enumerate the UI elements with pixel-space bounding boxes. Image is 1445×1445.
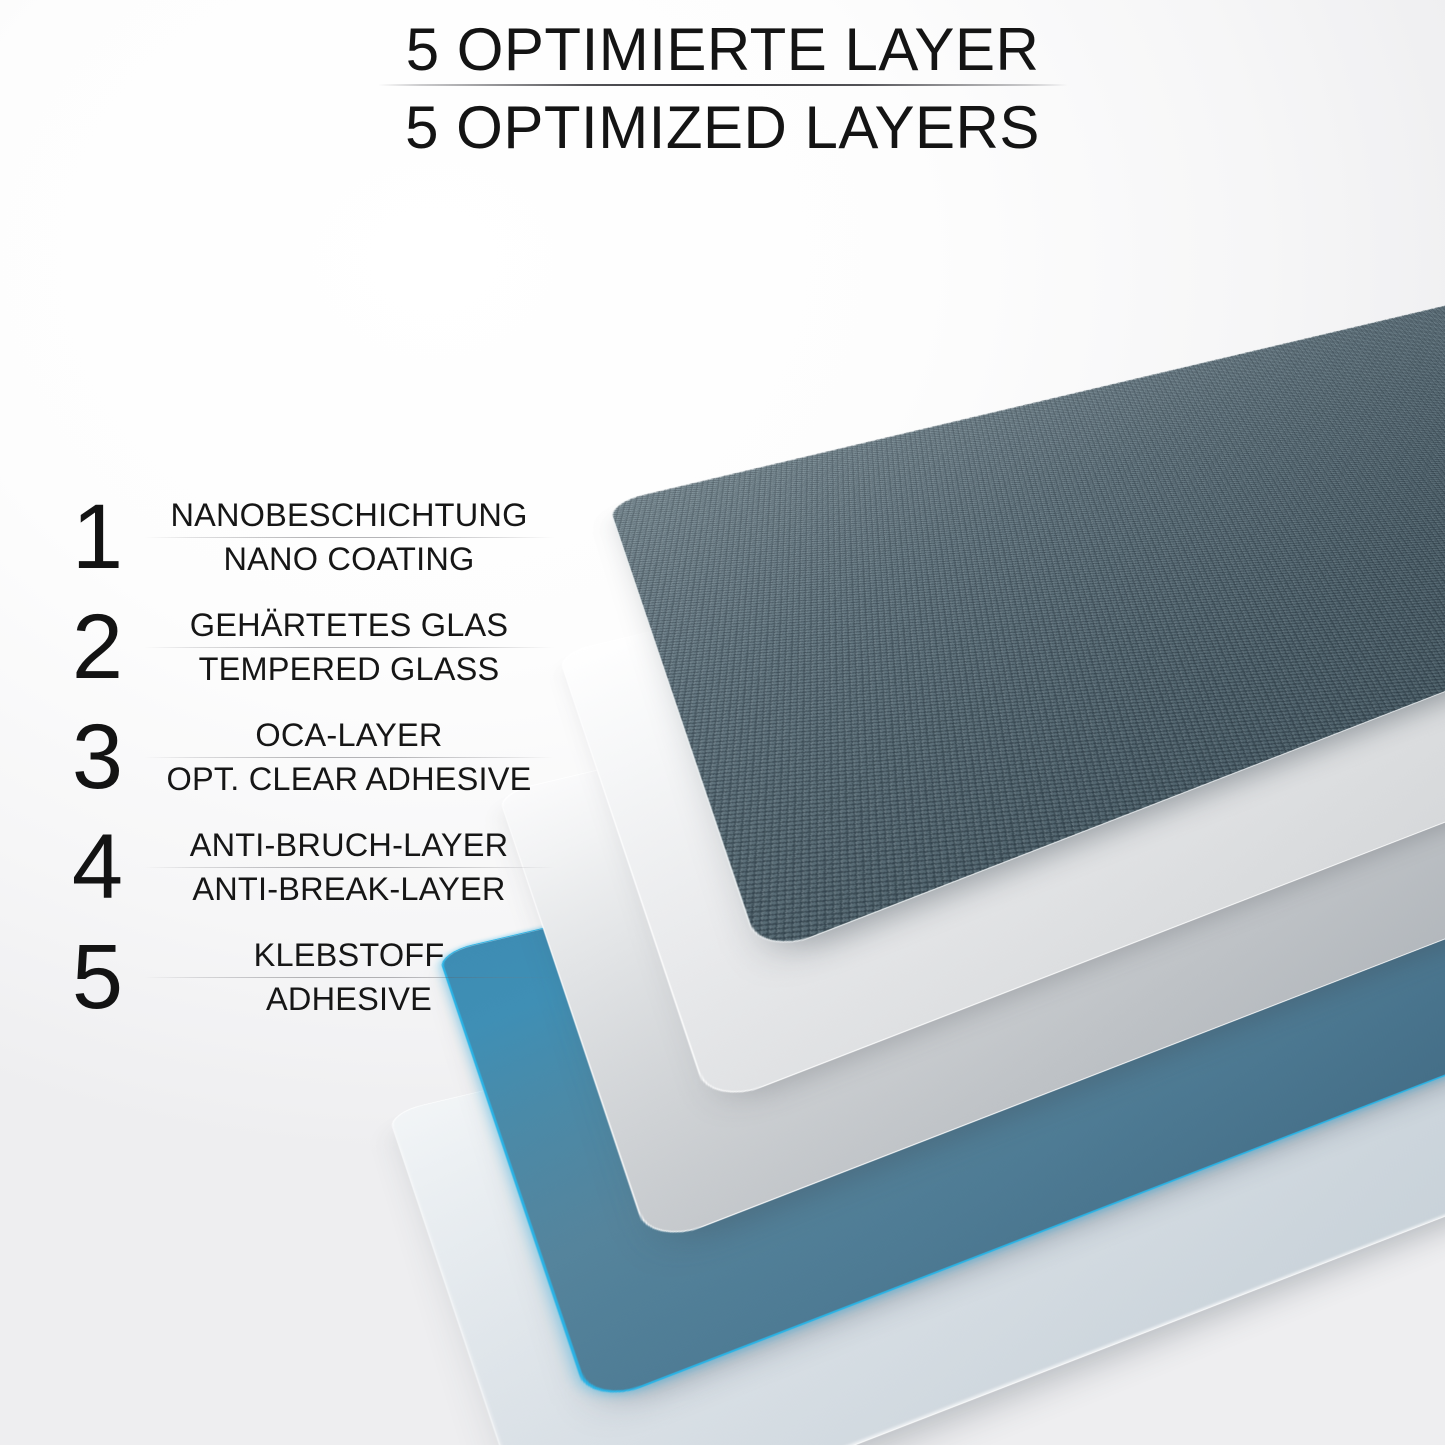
title-line-english: 5 OPTIMIZED LAYERS: [0, 96, 1445, 161]
anti-break-edge-glow: [437, 737, 1445, 1407]
legend-labels-2: GEHÄRTETES GLAS TEMPERED GLASS: [136, 606, 558, 688]
tempered-glass-sheet-surface: [497, 577, 1445, 1247]
legend-item-1: 1 NANOBESCHICHTUNG NANO COATING: [58, 482, 558, 592]
legend-item-3: 3 OCA-LAYER OPT. CLEAR ADHESIVE: [58, 702, 558, 812]
nano-coating-sheet-surface: [607, 287, 1445, 957]
legend-divider-5: [144, 977, 554, 978]
legend-label-de-2: GEHÄRTETES GLAS: [140, 606, 558, 644]
legend-label-en-5: ADHESIVE: [140, 980, 558, 1018]
legend-label-en-4: ANTI-BREAK-LAYER: [140, 870, 558, 908]
oca-sheet: [557, 437, 1445, 1107]
legend-labels-3: OCA-LAYER OPT. CLEAR ADHESIVE: [136, 716, 558, 798]
legend-label-en-1: NANO COATING: [140, 540, 558, 578]
legend-label-de-4: ANTI-BRUCH-LAYER: [140, 826, 558, 864]
legend-number-3: 3: [58, 711, 136, 803]
legend-divider-4: [144, 867, 554, 868]
legend-labels-5: KLEBSTOFF ADHESIVE: [136, 936, 558, 1018]
legend-number-2: 2: [58, 601, 136, 693]
tempered-glass-sheet: [497, 577, 1445, 1247]
legend-label-de-5: KLEBSTOFF: [140, 936, 558, 974]
legend-divider-3: [144, 757, 554, 758]
anti-break-sheet-surface: [437, 737, 1445, 1407]
anti-break-sheet: [437, 737, 1445, 1407]
legend-label-de-1: NANOBESCHICHTUNG: [140, 496, 558, 534]
layer-infographic: 5 OPTIMIERTE LAYER 5 OPTIMIZED LAYERS 1 …: [0, 0, 1445, 1445]
legend-labels-4: ANTI-BRUCH-LAYER ANTI-BREAK-LAYER: [136, 826, 558, 908]
legend-label-en-3: OPT. CLEAR ADHESIVE: [140, 760, 558, 798]
legend-item-4: 4 ANTI-BRUCH-LAYER ANTI-BREAK-LAYER: [58, 812, 558, 922]
legend-item-2: 2 GEHÄRTETES GLAS TEMPERED GLASS: [58, 592, 558, 702]
title-line-german: 5 OPTIMIERTE LAYER: [0, 18, 1445, 83]
oca-sheet-surface: [557, 437, 1445, 1107]
title-divider: [378, 84, 1068, 86]
legend-labels-1: NANOBESCHICHTUNG NANO COATING: [136, 496, 558, 578]
legend-label-en-2: TEMPERED GLASS: [140, 650, 558, 688]
legend-item-5: 5 KLEBSTOFF ADHESIVE: [58, 922, 558, 1032]
legend-divider-1: [144, 537, 554, 538]
nano-texture-pattern: [609, 287, 1445, 955]
legend-number-5: 5: [58, 931, 136, 1023]
nano-sheen-overlay: [609, 287, 1445, 955]
layer-legend: 1 NANOBESCHICHTUNG NANO COATING 2 GEHÄRT…: [58, 482, 558, 1032]
legend-number-4: 4: [58, 821, 136, 913]
nano-coating-sheet: [607, 287, 1445, 957]
page-title: 5 OPTIMIERTE LAYER 5 OPTIMIZED LAYERS: [0, 18, 1445, 161]
legend-label-de-3: OCA-LAYER: [140, 716, 558, 754]
legend-divider-2: [144, 647, 554, 648]
legend-number-1: 1: [58, 491, 136, 583]
